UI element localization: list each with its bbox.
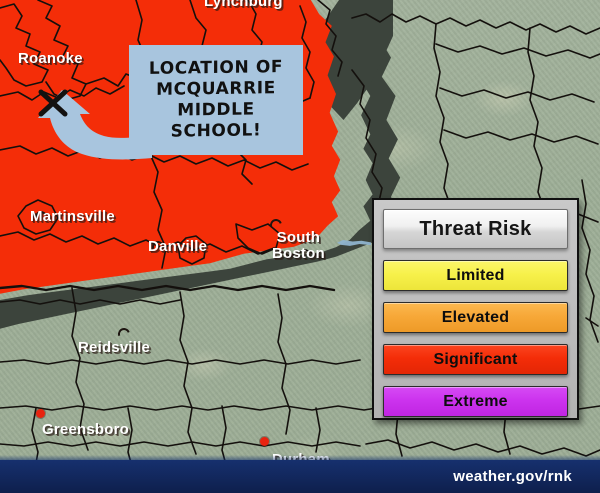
annotation-callout-box: Location of McQuarrie Middle School! <box>129 45 303 155</box>
footer-bar: weather.gov/rnk <box>0 460 600 493</box>
city-label-south-boston-line1: South <box>272 230 325 246</box>
legend-label-significant: Significant <box>434 351 518 369</box>
legend-row-elevated: Elevated <box>383 302 568 333</box>
city-label-martinsville: Martinsville <box>30 209 115 225</box>
city-label-south-boston-line2: Boston <box>272 246 325 262</box>
footer-url-label: weather.gov/rnk <box>453 468 600 485</box>
city-marker-durham <box>260 437 269 446</box>
legend-label-extreme: Extreme <box>443 393 508 411</box>
legend-label-limited: Limited <box>446 267 504 285</box>
weather-map-screenshot: Lynchburg Roanoke Martinsville Danville … <box>0 0 600 493</box>
city-marker-greensboro <box>36 409 45 418</box>
legend-title: Threat Risk <box>383 209 568 249</box>
location-x-mark-icon <box>36 86 70 120</box>
legend-row-extreme: Extreme <box>383 386 568 417</box>
city-label-greensboro: Greensboro <box>42 422 129 438</box>
threat-risk-legend-panel: Threat Risk Limited Elevated Significant… <box>372 198 579 420</box>
city-label-reidsville: Reidsville <box>78 340 150 356</box>
legend-row-limited: Limited <box>383 260 568 291</box>
city-label-roanoke: Roanoke <box>18 51 83 67</box>
city-label-lynchburg: Lynchburg <box>204 0 283 10</box>
annotation-callout-text: Location of McQuarrie Middle School! <box>129 57 303 144</box>
city-label-danville: Danville <box>148 239 207 255</box>
city-label-south-boston: South Boston <box>272 230 325 262</box>
legend-label-elevated: Elevated <box>442 309 509 327</box>
legend-row-significant: Significant <box>383 344 568 375</box>
